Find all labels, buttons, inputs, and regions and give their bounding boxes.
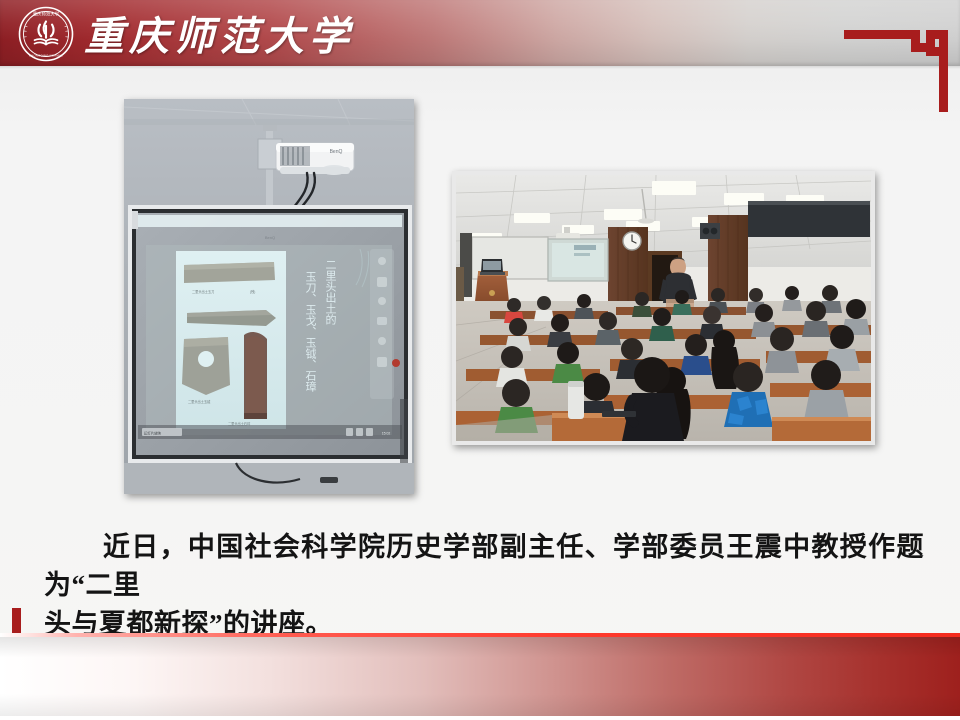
svg-text:重庆师范大学: 重庆师范大学 (33, 11, 60, 18)
header-divider (0, 66, 960, 69)
slide-bottom-edge (0, 716, 960, 720)
svg-text:CHONGQING NORMAL: CHONGQING NORMAL (29, 53, 63, 57)
svg-text:幻灯片放映: 幻灯片放映 (144, 431, 162, 436)
svg-text:15:02: 15:02 (382, 432, 391, 436)
svg-text:二里头出土玉钺: 二里头出土玉钺 (188, 399, 211, 404)
svg-text:BenQ: BenQ (330, 149, 343, 155)
lecture-description-text: 近日，中国社会科学院历史学部副主任、学部委员王震中教授作题为“二里头与夏都新探”… (44, 528, 924, 643)
page-title: 重庆师范大学 (84, 3, 354, 63)
svg-text:(残): (残) (250, 289, 255, 294)
svg-text:二里头出土玉刀: 二里头出土玉刀 (192, 289, 214, 294)
presentation-slide: 重庆师范大学 CHONGQING NORMAL (0, 0, 960, 720)
footer-banner (0, 637, 960, 716)
svg-text:BenQ: BenQ (265, 235, 275, 240)
chinese-corner-ornament-icon-top-right (840, 8, 952, 112)
university-seal-icon: 重庆师范大学 CHONGQING NORMAL (18, 6, 74, 62)
svg-text:玉刀、玉戈、玉钺、石璋: 玉刀、玉戈、玉钺、石璋 (304, 271, 317, 392)
projector-screen-photo: BenQ BenQ (124, 99, 414, 494)
lecture-description-line-1: 近日，中国社会科学院历史学部副主任、学部委员王震中教授作题为“二里 (44, 532, 924, 600)
lecture-hall-photo (452, 171, 875, 445)
svg-text:二里头出土的: 二里头出土的 (324, 259, 337, 326)
